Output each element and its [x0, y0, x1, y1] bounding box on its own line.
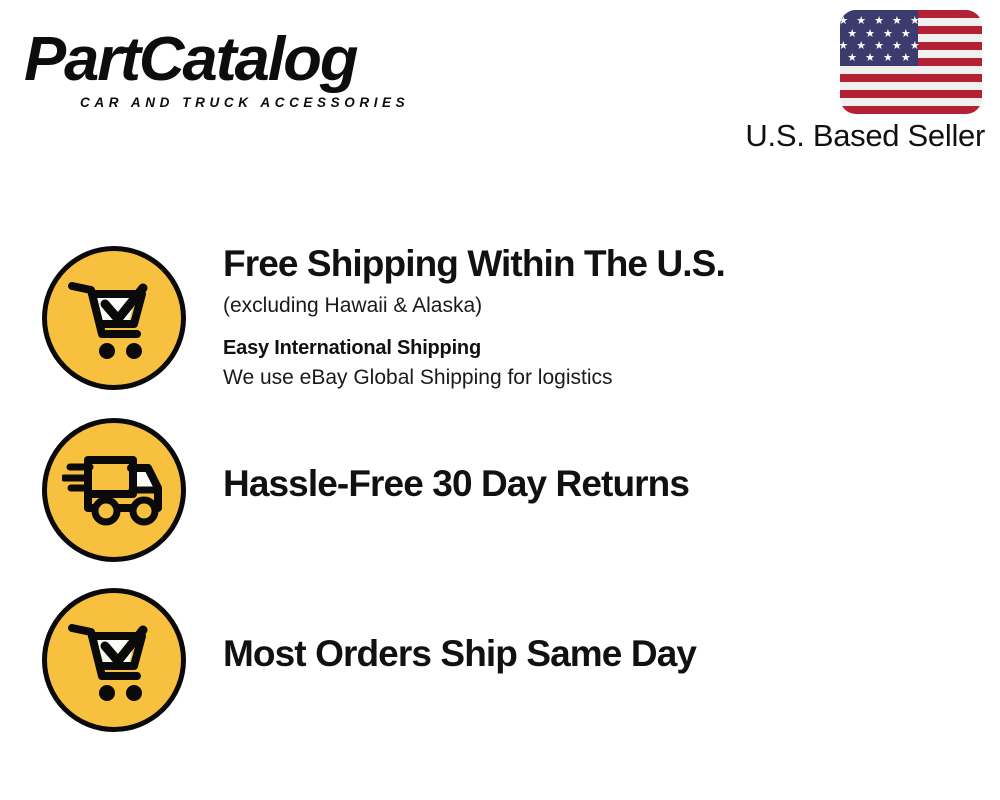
- flag-stripe: [840, 90, 982, 98]
- star-icon: ★: [865, 29, 875, 40]
- us-flag-icon: ★ ★ ★ ★ ★ ★ ★ ★ ★ ★ ★ ★ ★ ★: [840, 10, 982, 114]
- feature-subtext: We use eBay Global Shipping for logistic…: [223, 364, 983, 392]
- star-icon: ★: [883, 53, 893, 64]
- feature-headline: Free Shipping Within The U.S.: [223, 242, 983, 286]
- star-icon: ★: [901, 29, 911, 40]
- shopping-cart-check-icon: [42, 246, 186, 390]
- flag-canton: ★ ★ ★ ★ ★ ★ ★ ★ ★ ★ ★ ★ ★ ★: [840, 10, 918, 66]
- star-icon: ★: [856, 41, 866, 52]
- flag-stripe: [840, 106, 982, 114]
- star-icon: ★: [892, 41, 902, 52]
- page-header: PartCatalog CAR AND TRUCK ACCESSORIES ★ …: [0, 0, 1000, 170]
- star-icon: ★: [874, 41, 884, 52]
- flag-star-row: ★ ★ ★ ★ ★: [840, 41, 918, 52]
- star-icon: ★: [874, 16, 884, 27]
- feature-subhead: Easy International Shipping: [223, 335, 983, 361]
- star-icon: ★: [847, 29, 857, 40]
- flag-stripe: [840, 98, 982, 106]
- feature-headline: Hassle-Free 30 Day Returns: [223, 462, 983, 506]
- brand-logo[interactable]: PartCatalog CAR AND TRUCK ACCESSORIES: [24, 26, 494, 118]
- star-icon: ★: [865, 53, 875, 64]
- star-icon: ★: [883, 29, 893, 40]
- flag-stripe: [840, 66, 982, 74]
- feature-text-block: Hassle-Free 30 Day Returns: [223, 462, 983, 506]
- brand-tagline: CAR AND TRUCK ACCESSORIES: [80, 95, 494, 110]
- brand-wordmark: PartCatalog: [24, 26, 503, 94]
- flag-stripe: [840, 74, 982, 82]
- flag-stripe: [840, 82, 982, 90]
- seller-badge-label: U.S. Based Seller: [620, 118, 985, 154]
- star-icon: ★: [856, 16, 866, 27]
- star-icon: ★: [910, 41, 920, 52]
- star-icon: ★: [901, 53, 911, 64]
- star-icon: ★: [840, 41, 848, 52]
- feature-headline: Most Orders Ship Same Day: [223, 632, 983, 676]
- star-icon: ★: [910, 16, 920, 27]
- seller-badge: ★ ★ ★ ★ ★ ★ ★ ★ ★ ★ ★ ★ ★ ★: [840, 10, 982, 114]
- flag-star-row: ★ ★ ★ ★: [840, 53, 918, 64]
- star-icon: ★: [840, 16, 848, 27]
- flag-star-row: ★ ★ ★ ★: [840, 29, 918, 40]
- shopping-cart-check-icon: [42, 588, 186, 732]
- fast-delivery-truck-icon: [42, 418, 186, 562]
- flag-star-row: ★ ★ ★ ★ ★: [840, 16, 918, 27]
- feature-text-block: Free Shipping Within The U.S. (excluding…: [223, 242, 983, 392]
- feature-subnote: (excluding Hawaii & Alaska): [223, 292, 983, 320]
- star-icon: ★: [847, 53, 857, 64]
- star-icon: ★: [892, 16, 902, 27]
- feature-text-block: Most Orders Ship Same Day: [223, 632, 983, 676]
